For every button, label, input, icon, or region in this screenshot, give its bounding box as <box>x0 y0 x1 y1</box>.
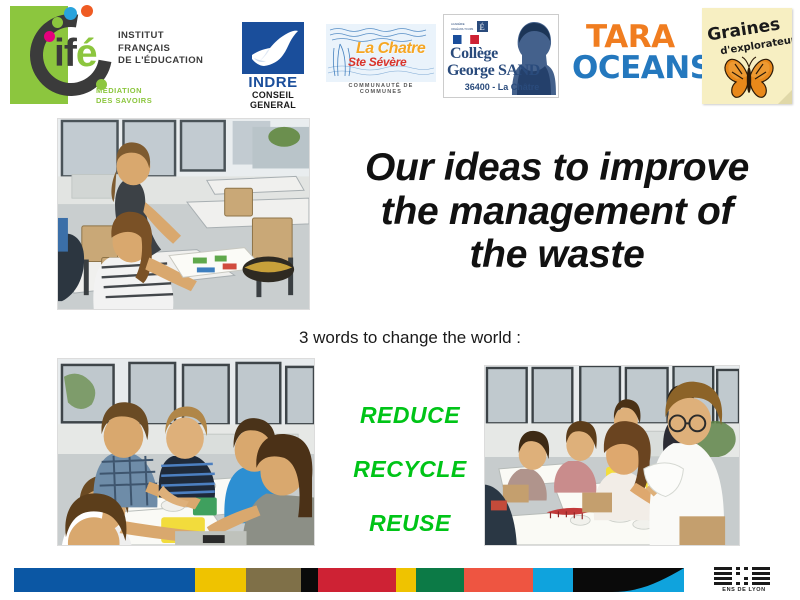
logo-indre-conseil-general: INDRE CONSEIL GENERAL <box>228 22 318 104</box>
footer-color-segment-6 <box>416 568 464 592</box>
title-line-2: the management of <box>318 190 796 234</box>
photo-2-art <box>58 359 314 545</box>
ife-dot-orange-icon <box>81 5 93 17</box>
french-flag-icon <box>453 35 479 44</box>
tara-line: TARA <box>586 22 675 53</box>
pencil-case <box>243 257 295 283</box>
footer-color-segment-2 <box>246 568 301 592</box>
logo-ens-de-lyon: ENS DE LYON <box>700 566 788 596</box>
footer-color-strip <box>14 568 684 592</box>
photo-1-art <box>58 119 309 309</box>
keyword-recycle: RECYCLE <box>330 442 490 496</box>
footer-color-segment-8 <box>533 568 574 592</box>
footer-color-segment-1 <box>195 568 246 592</box>
ife-dot-blue-icon <box>64 7 77 20</box>
footer-color-segment-3 <box>301 568 318 592</box>
photo-classroom-students-mapping <box>57 118 310 310</box>
la-chatre-line-2: Ste Sévère <box>348 55 406 69</box>
logo-college-george-sand: ACADÉMIE ORLÉANS-TOURS É Collège George … <box>443 14 559 98</box>
logo-la-chatre: La Chatre Ste Sévère COMMUNAUTÉ DE COMMU… <box>326 24 436 96</box>
svg-text:ORLÉANS-TOURS: ORLÉANS-TOURS <box>451 26 474 31</box>
partner-logo-bar: ifé INSTITUT FRANÇAIS DE L'ÉDUCATION MÉD… <box>0 0 800 112</box>
slide-subtitle: 3 words to change the world : <box>180 328 640 348</box>
footer-color-segment-5 <box>396 568 416 592</box>
footer-color-segment-7 <box>464 568 533 592</box>
indre-name: INDRE <box>228 74 318 91</box>
logo-ife: ifé INSTITUT FRANÇAIS DE L'ÉDUCATION MÉD… <box>8 4 223 108</box>
ife-institute-name: INSTITUT FRANÇAIS DE L'ÉDUCATION <box>118 30 203 68</box>
college-line-3: 36400 - La Châtre <box>444 82 559 92</box>
page-title: Our ideas to improve the management of t… <box>318 146 796 277</box>
butterfly-icon <box>722 52 776 100</box>
ife-wordmark: ifé <box>54 34 97 73</box>
ens-caption: ENS DE LYON <box>700 587 788 593</box>
photo-students-sorting-materials <box>57 358 315 546</box>
photo-students-waste-workshop <box>484 365 740 546</box>
title-line-1: Our ideas to improve <box>318 146 796 190</box>
footer-bar: ENS DE LYON <box>0 560 800 600</box>
ife-name-line-3: DE L'ÉDUCATION <box>118 55 203 68</box>
title-line-3: the waste <box>318 233 796 277</box>
sticky-note-fold <box>778 90 792 104</box>
oceans-line: OCEANS <box>572 53 712 84</box>
academy-badge-icon: ACADÉMIE ORLÉANS-TOURS É <box>451 20 491 34</box>
keyword-reuse: REUSE <box>330 496 490 550</box>
logo-graines-explorateurs: Graines d'explorateurs <box>702 8 792 104</box>
ife-tagline-line-1: MÉDIATION <box>96 86 152 96</box>
keyword-list: REDUCE RECYCLE REUSE <box>330 388 490 550</box>
ens-mark-icon <box>700 566 788 587</box>
footer-color-segment-4 <box>318 568 396 592</box>
svg-text:É: É <box>480 22 485 32</box>
la-chatre-subtitle: COMMUNAUTÉ DE COMMUNES <box>326 83 436 95</box>
footer-color-segment-0 <box>14 568 195 592</box>
dove-icon <box>248 25 300 71</box>
ife-name-line-2: FRANÇAIS <box>118 43 203 56</box>
ife-name-line-1: INSTITUT <box>118 30 203 43</box>
slide-root: ifé INSTITUT FRANÇAIS DE L'ÉDUCATION MÉD… <box>0 0 800 600</box>
keyword-reduce: REDUCE <box>330 388 490 442</box>
ife-tagline-line-2: DES SAVOIRS <box>96 96 152 106</box>
college-line-2: George SAND <box>447 62 540 80</box>
ife-dot-green-icon <box>52 17 63 28</box>
college-line-1: Collège <box>450 45 498 63</box>
ife-tagline: MÉDIATION DES SAVOIRS <box>96 86 152 106</box>
la-chatre-artwork: La Chatre Ste Sévère <box>326 24 436 82</box>
photo-3-art <box>485 366 739 545</box>
footer-swoop-icon <box>594 568 684 592</box>
logo-tara-oceans: TARA OCEANS <box>572 22 702 94</box>
indre-subtitle: CONSEIL GENERAL <box>228 90 318 110</box>
svg-text:ACADÉMIE: ACADÉMIE <box>451 21 465 26</box>
